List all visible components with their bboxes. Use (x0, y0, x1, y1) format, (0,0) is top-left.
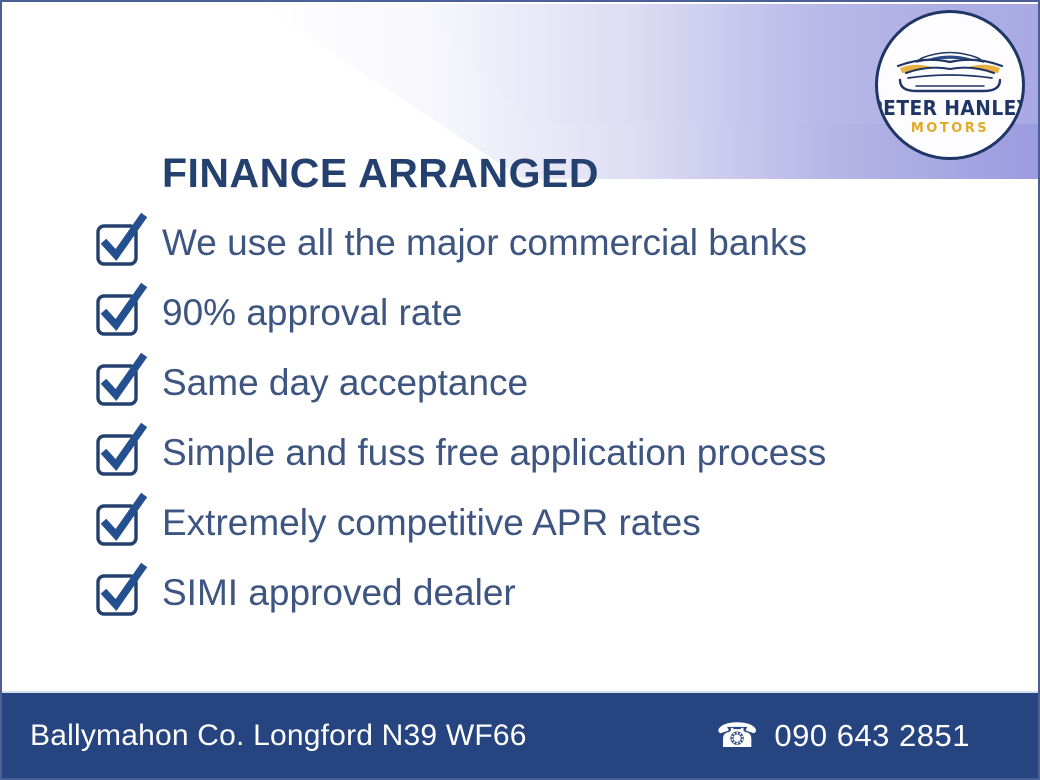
feature-label: Same day acceptance (162, 364, 528, 403)
footer-contact[interactable]: ☎ 090 643 2851 (716, 718, 1008, 754)
feature-label: 90% approval rate (162, 294, 462, 333)
list-item: Simple and fuss free application process (94, 418, 954, 488)
logo-brand-name: PETER HANLEY (875, 98, 1025, 118)
feature-label: We use all the major commercial banks (162, 224, 807, 263)
feature-list: We use all the major commercial banks 90… (94, 208, 954, 628)
feature-label: SIMI approved dealer (162, 574, 516, 613)
brand-logo-badge: PETER HANLEY MOTORS (875, 10, 1025, 160)
checkbox-checked-icon (94, 216, 148, 270)
checkbox-checked-icon (94, 286, 148, 340)
footer-bar: Ballymahon Co. Longford N39 WF66 ☎ 090 6… (2, 691, 1038, 778)
feature-label: Extremely competitive APR rates (162, 504, 701, 543)
checkbox-checked-icon (94, 356, 148, 410)
logo-sub-name: MOTORS (911, 122, 989, 135)
list-item: SIMI approved dealer (94, 558, 954, 628)
checkbox-checked-icon (94, 496, 148, 550)
footer-address: Ballymahon Co. Longford N39 WF66 (30, 719, 527, 753)
checkbox-checked-icon (94, 426, 148, 480)
list-item: Same day acceptance (94, 348, 954, 418)
list-item: Extremely competitive APR rates (94, 488, 954, 558)
list-item: 90% approval rate (94, 278, 954, 348)
car-front-icon (892, 42, 1008, 96)
page-title: FINANCE ARRANGED (162, 150, 599, 197)
footer-phone-number[interactable]: 090 643 2851 (774, 718, 970, 754)
advert-card: PETER HANLEY MOTORS FINANCE ARRANGED We … (0, 0, 1040, 780)
checkbox-checked-icon (94, 566, 148, 620)
feature-label: Simple and fuss free application process (162, 434, 826, 473)
list-item: We use all the major commercial banks (94, 208, 954, 278)
telephone-icon: ☎ (716, 719, 758, 753)
